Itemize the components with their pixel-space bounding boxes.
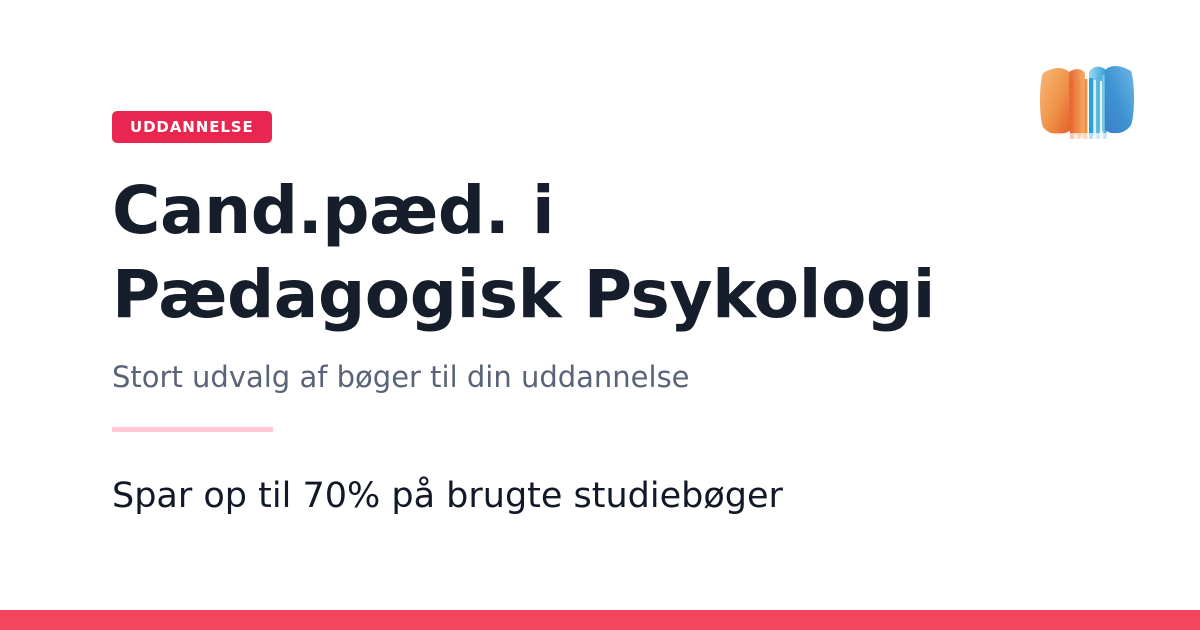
category-badge[interactable]: UDDANNELSE xyxy=(112,111,272,143)
page-tagline: Spar op til 70% på brugte studiebøger xyxy=(112,475,1112,517)
page-title-line-1: Cand.pæd. i xyxy=(112,169,1052,253)
accent-divider xyxy=(112,427,273,432)
og-card: UDDANNELSE Cand.pæd. i Pædagogisk Psykol… xyxy=(0,0,1200,630)
page-title: Cand.pæd. i Pædagogisk Psykologi xyxy=(112,169,1052,337)
page-title-line-2: Pædagogisk Psykologi xyxy=(112,253,1052,337)
bottom-accent-bar xyxy=(0,610,1200,630)
page-subtitle: Stort udvalg af bøger til din uddannelse xyxy=(112,359,1112,395)
content-block: UDDANNELSE Cand.pæd. i Pædagogisk Psykol… xyxy=(112,111,1112,517)
